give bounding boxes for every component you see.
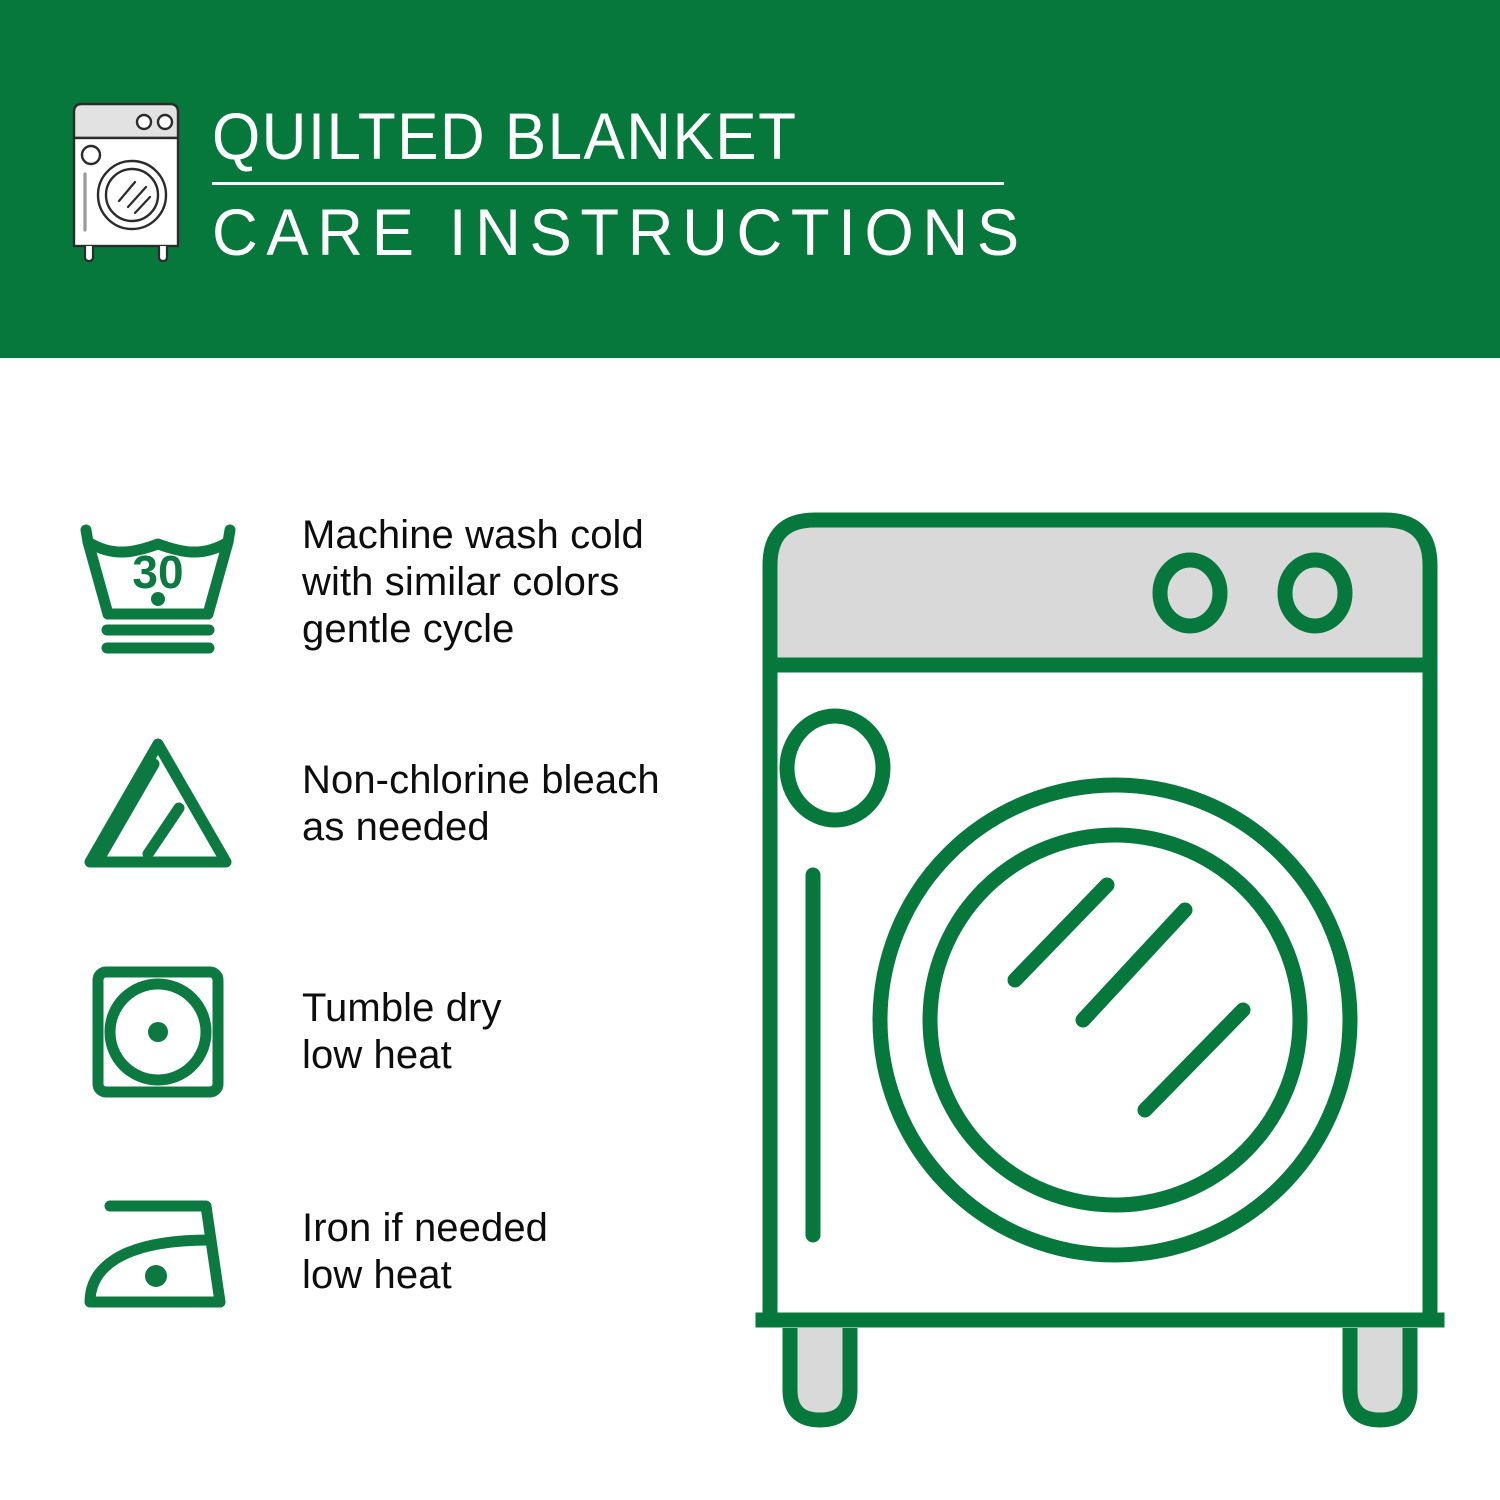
drum-highlight-stroke bbox=[1015, 885, 1107, 980]
care-instructions-list: 30 Machine wash cold with similar colors… bbox=[0, 358, 720, 1500]
care-line: low heat bbox=[302, 1252, 548, 1299]
control-panel bbox=[770, 520, 1430, 665]
care-label-tumble-dry: Tumble dry low heat bbox=[302, 985, 502, 1079]
washing-machine-icon bbox=[62, 98, 190, 266]
care-line: gentle cycle bbox=[302, 606, 644, 653]
care-line: with similar colors bbox=[302, 559, 644, 606]
wash-tub-30-gentle-icon: 30 bbox=[74, 508, 242, 656]
care-symbol-wrap bbox=[70, 730, 246, 878]
care-line: as needed bbox=[302, 804, 660, 851]
title-block: QUILTED BLANKET CARE INSTRUCTIONS bbox=[212, 100, 1062, 267]
door-latch[interactable] bbox=[787, 716, 883, 820]
care-line: Tumble dry bbox=[302, 985, 502, 1032]
leg-right bbox=[1350, 1328, 1410, 1420]
care-label-iron: Iron if needed low heat bbox=[302, 1205, 548, 1299]
care-line: Non-chlorine bleach bbox=[302, 757, 660, 804]
tumble-dry-low-icon bbox=[74, 958, 242, 1106]
drum-highlight-stroke bbox=[1145, 1010, 1243, 1110]
care-label-bleach: Non-chlorine bleach as needed bbox=[302, 757, 660, 851]
care-item-iron: Iron if needed low heat bbox=[70, 1178, 710, 1326]
care-item-bleach: Non-chlorine bleach as needed bbox=[70, 730, 710, 878]
page-subtitle: CARE INSTRUCTIONS bbox=[212, 197, 1028, 267]
page-title: QUILTED BLANKET bbox=[212, 100, 1011, 172]
care-line: low heat bbox=[302, 1032, 502, 1079]
leg-left bbox=[790, 1328, 850, 1420]
care-item-tumble-dry: Tumble dry low heat bbox=[70, 958, 710, 1106]
care-line: Iron if needed bbox=[302, 1205, 548, 1252]
care-symbol-wrap bbox=[70, 1178, 246, 1326]
care-label-machine-wash: Machine wash cold with similar colors ge… bbox=[302, 512, 644, 653]
drum-door-inner-ring[interactable] bbox=[930, 835, 1300, 1205]
washing-machine-illustration bbox=[735, 490, 1465, 1450]
wash-temperature-value: 30 bbox=[132, 546, 183, 598]
drum-door-outer-ring[interactable] bbox=[880, 785, 1350, 1255]
non-chlorine-bleach-triangle-icon bbox=[74, 730, 242, 878]
care-line: Machine wash cold bbox=[302, 512, 644, 559]
iron-low-heat-icon bbox=[74, 1178, 242, 1326]
header-banner: QUILTED BLANKET CARE INSTRUCTIONS bbox=[0, 0, 1500, 358]
header-content: QUILTED BLANKET CARE INSTRUCTIONS bbox=[62, 98, 1062, 267]
care-symbol-wrap bbox=[70, 958, 246, 1106]
care-item-machine-wash: 30 Machine wash cold with similar colors… bbox=[70, 508, 710, 656]
care-symbol-wrap: 30 bbox=[70, 508, 246, 656]
title-divider bbox=[212, 182, 1004, 185]
drum-highlight-stroke bbox=[1083, 910, 1185, 1020]
